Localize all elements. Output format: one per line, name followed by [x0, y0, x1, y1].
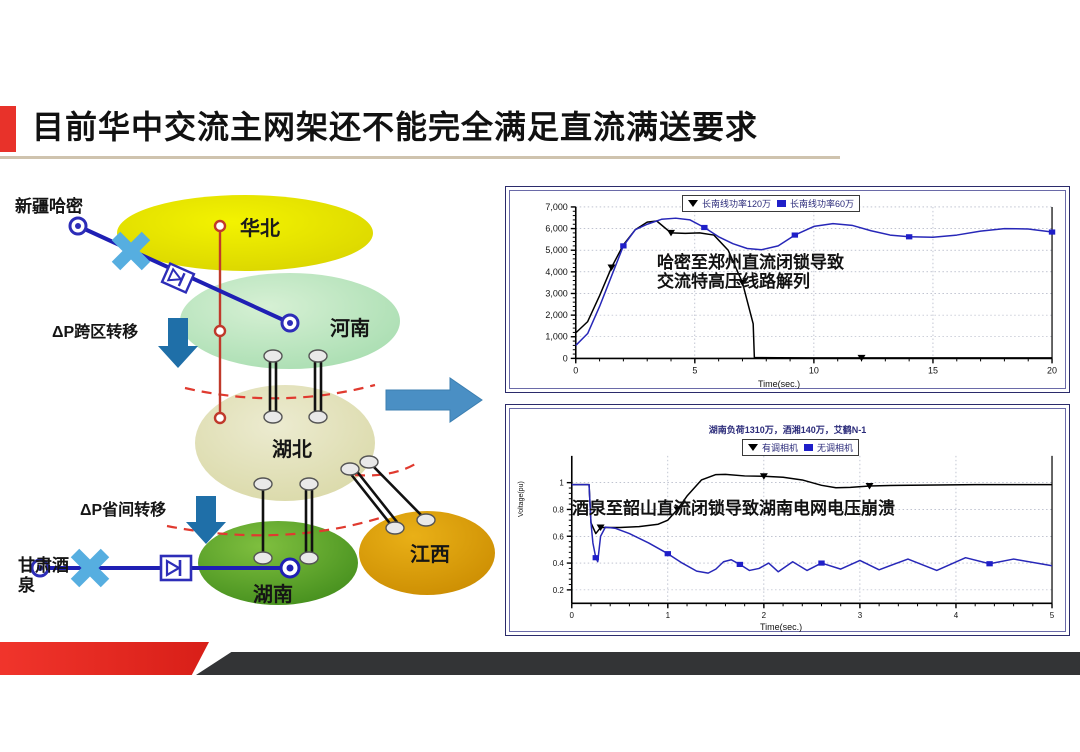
label-region-hunan: 湖南: [253, 578, 293, 607]
converter-station-icon-south: [161, 556, 191, 580]
legend-entry-1: 长南线功率60万: [777, 197, 854, 210]
square-icon: [804, 444, 813, 451]
triangle-down-icon: [748, 444, 758, 451]
svg-text:5: 5: [1050, 611, 1055, 620]
slide-title-block: 目前华中交流主网架还不能完全满足直流满送要求: [0, 104, 880, 156]
label-region-henan: 河南: [330, 312, 370, 341]
page-title: 目前华中交流主网架还不能完全满足直流满送要求: [32, 104, 758, 150]
chart-panel-top: 01,0002,0003,0004,0005,0006,0007,0000510…: [505, 186, 1070, 393]
label-gansu-jiuquan: 甘肃酒泉: [18, 556, 82, 596]
svg-text:1,000: 1,000: [545, 332, 567, 342]
uhv-corridor-hubei-jiangxi: [341, 456, 435, 534]
bottom-chart-legend: 有调相机 无调相机: [742, 439, 859, 456]
square-icon: [777, 200, 786, 207]
svg-text:5,000: 5,000: [545, 245, 567, 255]
ac-node-bottom: [215, 413, 225, 423]
bottom-chart-title: 湖南负荷1310万，酒湘140万，艾鹤N-1: [510, 423, 1065, 436]
triangle-down-icon: [688, 200, 698, 207]
title-underline: [0, 156, 840, 159]
legend-label-1: 无调相机: [817, 441, 853, 454]
svg-text:0.8: 0.8: [553, 505, 565, 514]
svg-text:0: 0: [570, 611, 575, 620]
svg-text:0.4: 0.4: [553, 559, 565, 568]
label-region-hubei: 湖北: [272, 433, 312, 462]
svg-text:0.6: 0.6: [553, 532, 565, 541]
legend-label-0: 长南线功率120万: [702, 197, 771, 210]
svg-text:0: 0: [573, 365, 578, 375]
svg-text:1: 1: [559, 479, 564, 488]
footer-dark-ribbon: [196, 652, 1080, 675]
svg-text:0.2: 0.2: [553, 586, 565, 595]
label-delta-p-cross-region: ΔP跨区转移: [52, 318, 138, 342]
ac-node-top: [215, 221, 225, 231]
bottom-chart-xlabel: Time(sec.): [760, 622, 802, 632]
flow-to-charts-arrow: [386, 378, 482, 422]
footer-red-ribbon: [0, 642, 209, 675]
legend-label-0: 有调相机: [762, 441, 798, 454]
svg-text:10: 10: [809, 365, 819, 375]
title-accent-bar: [0, 106, 16, 152]
svg-text:4: 4: [954, 611, 959, 620]
svg-text:2: 2: [762, 611, 767, 620]
svg-text:3,000: 3,000: [545, 288, 567, 298]
label-xinjiang-hami: 新疆哈密: [15, 192, 83, 217]
slide-root: 目前华中交流主网架还不能完全满足直流满送要求: [0, 0, 1080, 752]
svg-text:7,000: 7,000: [545, 202, 567, 212]
power-grid-transfer-diagram: 新疆哈密 甘肃酒泉 ΔP跨区转移 ΔP省间转移 华北 河南 湖北 湖南 江西: [0, 178, 500, 638]
legend-entry-0: 长南线功率120万: [688, 197, 771, 210]
label-delta-p-inter-province: ΔP省间转移: [80, 496, 166, 520]
svg-text:4,000: 4,000: [545, 267, 567, 277]
top-chart-xlabel: Time(sec.): [758, 379, 800, 389]
svg-text:2,000: 2,000: [545, 310, 567, 320]
bottom-chart-ylabel: Voltage(pu): [518, 481, 525, 517]
top-chart-legend: 长南线功率120万 长南线功率60万: [682, 195, 860, 212]
chart-panel-bottom-inner: 0.20.40.60.81012345 湖南负荷1310万，酒湘140万，艾鹤N…: [509, 408, 1066, 632]
bottom-chart-annotation: 酒泉至韶山直流闭锁导致湖南电网电压崩溃: [572, 499, 895, 518]
label-region-jiangxi: 江西: [410, 538, 450, 567]
svg-text:15: 15: [928, 365, 938, 375]
svg-text:20: 20: [1047, 365, 1057, 375]
top-chart-annotation: 哈密至郑州直流闭锁导致交流特高压线路解列: [657, 253, 844, 291]
svg-text:1: 1: [666, 611, 671, 620]
label-region-huabei: 华北: [240, 212, 280, 241]
svg-text:3: 3: [858, 611, 863, 620]
legend-entry-0: 有调相机: [748, 441, 798, 454]
svg-text:6,000: 6,000: [545, 224, 567, 234]
ac-node-mid: [215, 326, 225, 336]
legend-entry-1: 无调相机: [804, 441, 853, 454]
chart-panel-top-inner: 01,0002,0003,0004,0005,0006,0007,0000510…: [509, 190, 1066, 389]
svg-text:5: 5: [692, 365, 697, 375]
legend-label-1: 长南线功率60万: [790, 197, 854, 210]
svg-text:0: 0: [563, 353, 568, 363]
chart-panel-bottom: 0.20.40.60.81012345 湖南负荷1310万，酒湘140万，艾鹤N…: [505, 404, 1070, 636]
